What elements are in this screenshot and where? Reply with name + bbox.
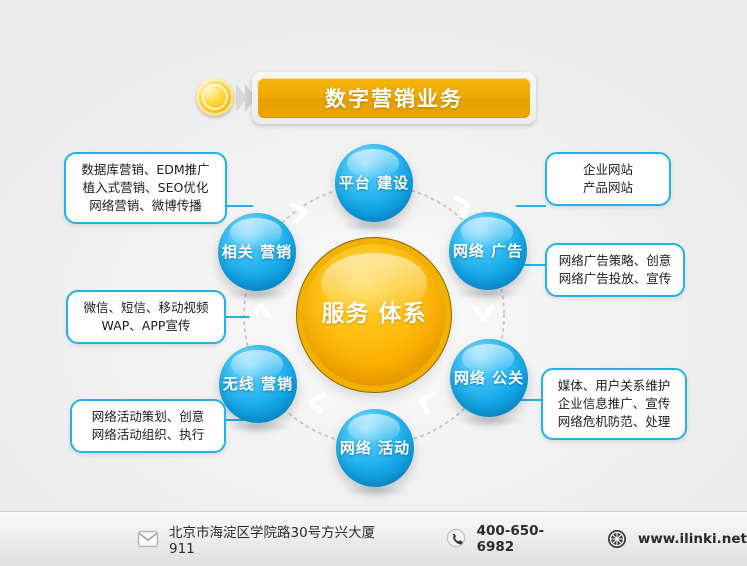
flow-arrow-icon <box>302 390 328 416</box>
node-label: 无线 营销 <box>223 375 293 393</box>
title-banner: 数字营销业务 <box>196 72 536 124</box>
footer-website[interactable]: www.ilinki.net <box>605 527 747 551</box>
leader-line-related <box>227 205 253 207</box>
envelope-icon <box>136 527 160 551</box>
footer-phone: 400-650-6982 <box>444 523 577 555</box>
node-related[interactable]: 相关 营销 <box>218 213 296 291</box>
callout-platform-site: 企业网站 产品网站 <box>545 152 671 206</box>
footer-bar: 北京市海淀区学院路30号方兴大厦911 400-650-6982 www.ili… <box>0 511 747 566</box>
node-label: 网络 广告 <box>453 242 523 260</box>
node-label: 平台 建设 <box>339 174 409 192</box>
page-title: 数字营销业务 <box>325 83 463 113</box>
banner-plate: 数字营销业务 <box>252 72 536 124</box>
callout-network-activity: 网络活动策划、创意 网络活动组织、执行 <box>70 399 226 453</box>
footer-phone-text: 400-650-6982 <box>477 523 577 555</box>
node-platform[interactable]: 平台 建设 <box>335 144 413 222</box>
node-ad[interactable]: 网络 广告 <box>449 212 527 290</box>
callout-related-marketing: 数据库营销、EDM推广 植入式营销、SEO优化 网络营销、微博传播 <box>64 152 227 224</box>
node-wireless[interactable]: 无线 营销 <box>219 345 297 423</box>
hub-label: 服务 体系 <box>321 301 426 328</box>
footer-website-text: www.ilinki.net <box>638 531 747 547</box>
gold-coin-icon <box>196 78 234 116</box>
flow-arrow-icon <box>288 200 314 226</box>
node-label: 网络 公关 <box>454 369 524 387</box>
leader-line-wireless <box>226 316 250 318</box>
leader-line-site <box>516 205 546 207</box>
diagram-canvas: 数字营销业务 服务 体系 平台 建设 网络 广告 网络 公关 网络 <box>0 0 747 566</box>
flow-arrow-icon <box>248 298 274 324</box>
node-activity[interactable]: 网络 活动 <box>336 409 414 487</box>
banner-inner: 数字营销业务 <box>258 78 530 118</box>
callout-network-ad: 网络广告策略、创意 网络广告投放、宣传 <box>545 243 685 297</box>
footer-address-text: 北京市海淀区学院路30号方兴大厦911 <box>169 521 392 557</box>
globe-icon <box>605 527 629 551</box>
flow-arrow-icon <box>414 390 440 416</box>
hub-service-system[interactable]: 服务 体系 <box>303 244 445 386</box>
footer-address: 北京市海淀区学院路30号方兴大厦911 <box>136 521 392 557</box>
phone-icon <box>444 527 468 551</box>
callout-network-pr: 媒体、用户关系维护 企业信息推广、宣传 网络危机防范、处理 <box>541 368 687 440</box>
callout-wireless-marketing: 微信、短信、移动视频 WAP、APP宣传 <box>66 290 226 344</box>
node-pr[interactable]: 网络 公关 <box>450 339 528 417</box>
flow-arrow-icon <box>470 300 496 326</box>
node-label: 网络 活动 <box>340 439 410 457</box>
node-label: 相关 营销 <box>222 243 292 261</box>
